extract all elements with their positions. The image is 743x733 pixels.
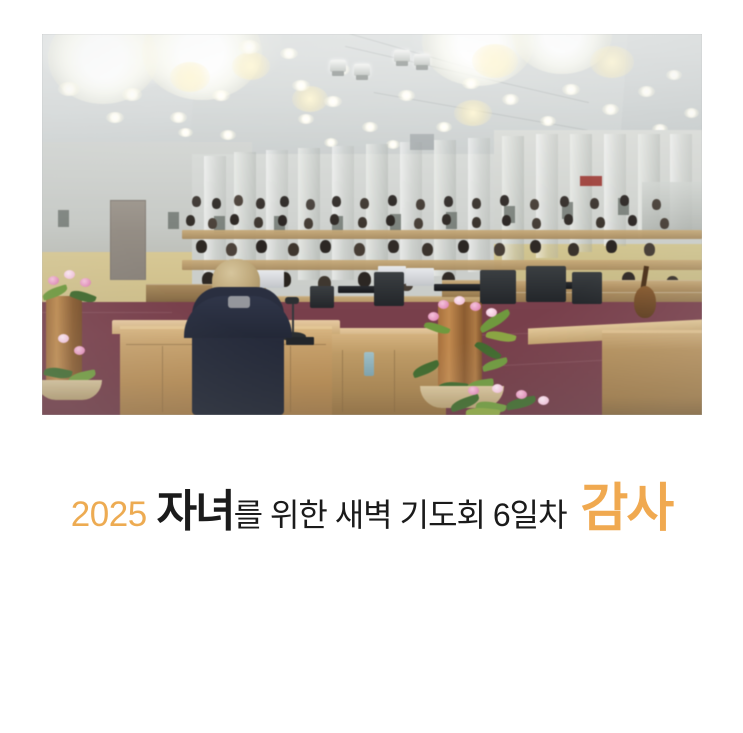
floor-monitor-speaker (374, 272, 404, 306)
bible-book (286, 337, 314, 345)
person-head (596, 217, 605, 228)
recessed-light (106, 112, 124, 123)
floor-monitor-speaker (526, 266, 566, 302)
person-head (568, 243, 579, 256)
recessed-light (436, 122, 452, 132)
water-cup (364, 352, 374, 376)
crowd-row (182, 194, 702, 214)
stage-light (414, 54, 430, 66)
caption-middle: 를 위한 새벽 (234, 490, 392, 536)
person-head (494, 243, 505, 256)
blossom (428, 312, 439, 321)
person-head (186, 215, 195, 226)
recessed-light (292, 80, 310, 91)
person-head (360, 198, 369, 209)
person-head (416, 199, 425, 210)
person-head (254, 217, 263, 228)
person-head (422, 243, 433, 256)
recessed-light (462, 78, 480, 89)
crowd-row (182, 238, 702, 258)
person-head (414, 218, 423, 229)
floor-monitor-speaker (572, 272, 602, 304)
wall-monitor-icon (410, 134, 434, 150)
caption-emphasis: 자녀 (157, 475, 234, 539)
person-head (208, 218, 217, 229)
caption-accent: 감사 (581, 466, 673, 541)
person-head (388, 240, 399, 253)
recessed-light (398, 90, 415, 101)
floor-monitor-speaker (480, 270, 516, 304)
recessed-light (602, 104, 619, 115)
blossom (80, 278, 91, 287)
laptop-icon (406, 268, 434, 286)
person-head (230, 214, 239, 225)
communion-table (602, 330, 702, 415)
pulpit-panel-seam (162, 346, 163, 412)
recessed-light (362, 122, 378, 132)
ceiling-light-warm (170, 62, 210, 92)
person-head (444, 196, 453, 207)
pulpit-panel-seam (290, 346, 291, 412)
recessed-light (238, 40, 260, 54)
person-head (234, 195, 243, 206)
person-head (606, 240, 617, 253)
blossom (486, 308, 497, 317)
blossom (454, 296, 465, 305)
person-head (472, 198, 481, 209)
blossom (48, 276, 59, 285)
person-head (386, 215, 395, 226)
microphone-icon (285, 297, 299, 304)
recessed-light (212, 90, 230, 101)
recessed-light (684, 108, 699, 118)
wall-speaker-icon (168, 212, 179, 229)
church-photo (42, 34, 702, 415)
person-head (472, 217, 481, 228)
person-head (442, 214, 451, 225)
person-head (590, 198, 599, 209)
caption-banner: 2025 자녀 를 위한 새벽 기도회 6일차 감사 (0, 466, 743, 536)
person-head (358, 272, 371, 287)
recessed-light (562, 84, 580, 95)
person-head (388, 195, 397, 206)
recessed-light (280, 48, 298, 59)
blossom (468, 386, 479, 395)
recessed-light (540, 116, 556, 126)
caption-year: 2025 (71, 495, 147, 535)
blossom (58, 334, 69, 343)
person-head (458, 240, 469, 253)
person-head (320, 240, 331, 253)
crowd-row (182, 212, 702, 232)
blossom (438, 300, 449, 309)
recessed-light (502, 94, 519, 105)
recessed-light (324, 96, 342, 107)
floor-monitor-speaker (310, 286, 334, 308)
blossom (64, 270, 75, 279)
person-head (212, 198, 221, 209)
recessed-light (122, 88, 142, 101)
stage-light (354, 64, 370, 76)
stage-light (330, 60, 346, 72)
guitar-icon (634, 286, 656, 318)
person-head (502, 215, 511, 226)
person-head (530, 199, 539, 210)
wall-speaker-icon (58, 210, 69, 227)
person-head (196, 240, 207, 253)
person-head (226, 243, 237, 256)
person-head (288, 243, 299, 256)
recessed-light (666, 70, 682, 80)
person-head (560, 196, 569, 207)
person-head (660, 218, 669, 229)
person-head (280, 196, 289, 207)
recessed-light (638, 86, 655, 97)
person-head (332, 196, 341, 207)
microphone-stand (292, 302, 294, 336)
person-head (256, 198, 265, 209)
recessed-light (386, 140, 400, 149)
blossom (470, 302, 481, 311)
ceiling-light-warm (472, 44, 518, 78)
blossom (538, 396, 549, 405)
church-photo-scene (42, 34, 702, 415)
person-head (628, 215, 637, 226)
person-head (620, 195, 629, 206)
person-head (644, 243, 655, 256)
ceiling-light-warm (232, 52, 270, 80)
pulpit-panel-seam (394, 350, 395, 412)
person-head (278, 215, 287, 226)
exit-sign (580, 176, 602, 186)
person-head (304, 218, 313, 229)
person-head (530, 240, 541, 253)
person-head (564, 214, 573, 225)
side-door (110, 200, 146, 280)
blossom (492, 384, 503, 393)
pulpit-panel-seam (342, 350, 343, 412)
person-head (330, 214, 339, 225)
stage-light (394, 50, 410, 62)
person-head (358, 217, 367, 228)
blossom (74, 346, 85, 355)
person-head (652, 199, 661, 210)
recessed-light (178, 128, 193, 137)
page-canvas: 2025 자녀 를 위한 새벽 기도회 6일차 감사 (0, 0, 743, 733)
person-head (192, 196, 201, 207)
person-head (354, 243, 365, 256)
recessed-light (298, 114, 314, 124)
ceiling-light-warm (590, 46, 634, 78)
flower-arrangement-front (450, 386, 560, 415)
ceiling-light-warm (454, 100, 492, 126)
person-head (532, 218, 541, 229)
recessed-light (58, 82, 80, 96)
caption-middle-2: 기도회 6일차 (400, 490, 567, 536)
person-head (500, 195, 509, 206)
person-head (306, 199, 315, 210)
laptop-icon (256, 270, 284, 288)
pastor-collar (228, 296, 250, 308)
recessed-light (220, 130, 236, 140)
pulpit-secondary (314, 334, 446, 415)
pew-back (182, 260, 702, 270)
recessed-light (170, 112, 187, 123)
blossom (516, 390, 527, 399)
person-head (256, 240, 267, 253)
